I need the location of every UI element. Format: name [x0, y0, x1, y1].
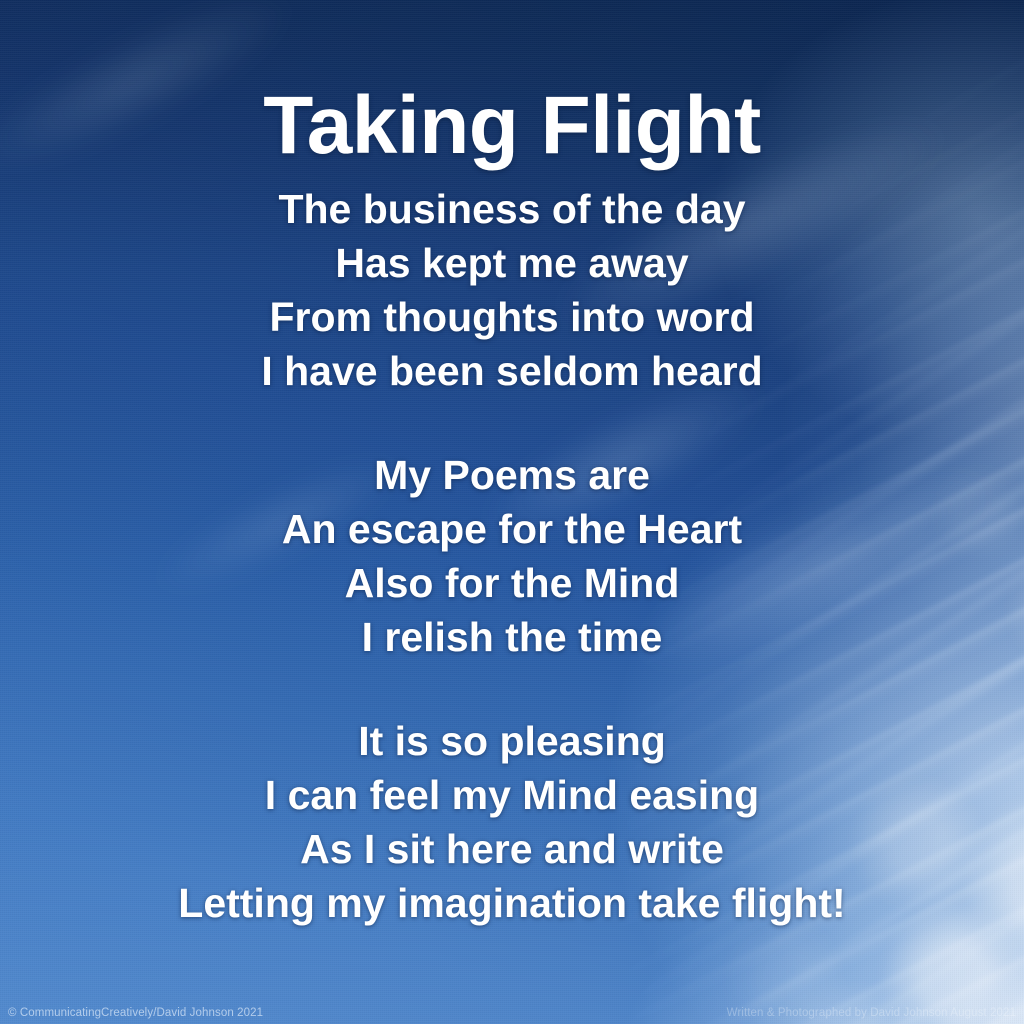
poem-line: From thoughts into word	[0, 290, 1024, 344]
poem-line: Has kept me away	[0, 236, 1024, 290]
poem-line: I have been seldom heard	[0, 344, 1024, 398]
poster-content: Taking Flight The business of the day Ha…	[0, 0, 1024, 1024]
poem-line: As I sit here and write	[0, 822, 1024, 876]
poem-line: Also for the Mind	[0, 556, 1024, 610]
poem-body: The business of the day Has kept me away…	[0, 182, 1024, 930]
copyright-notice: © CommunicatingCreatively/David Johnson …	[8, 1007, 263, 1019]
poem-stanza: My Poems are An escape for the Heart Als…	[0, 448, 1024, 664]
poem-line: I can feel my Mind easing	[0, 768, 1024, 822]
poem-poster: Taking Flight The business of the day Ha…	[0, 0, 1024, 1024]
poem-line: My Poems are	[0, 448, 1024, 502]
poem-line: The business of the day	[0, 182, 1024, 236]
attribution-notice: Written & Photographed by David Johnson …	[727, 1007, 1016, 1019]
poem-stanza: It is so pleasing I can feel my Mind eas…	[0, 714, 1024, 930]
poem-line: An escape for the Heart	[0, 502, 1024, 556]
poem-stanza: The business of the day Has kept me away…	[0, 182, 1024, 398]
poem-line: I relish the time	[0, 610, 1024, 664]
poem-line: Letting my imagination take flight!	[0, 876, 1024, 930]
poem-title: Taking Flight	[0, 83, 1024, 170]
poem-line: It is so pleasing	[0, 714, 1024, 768]
